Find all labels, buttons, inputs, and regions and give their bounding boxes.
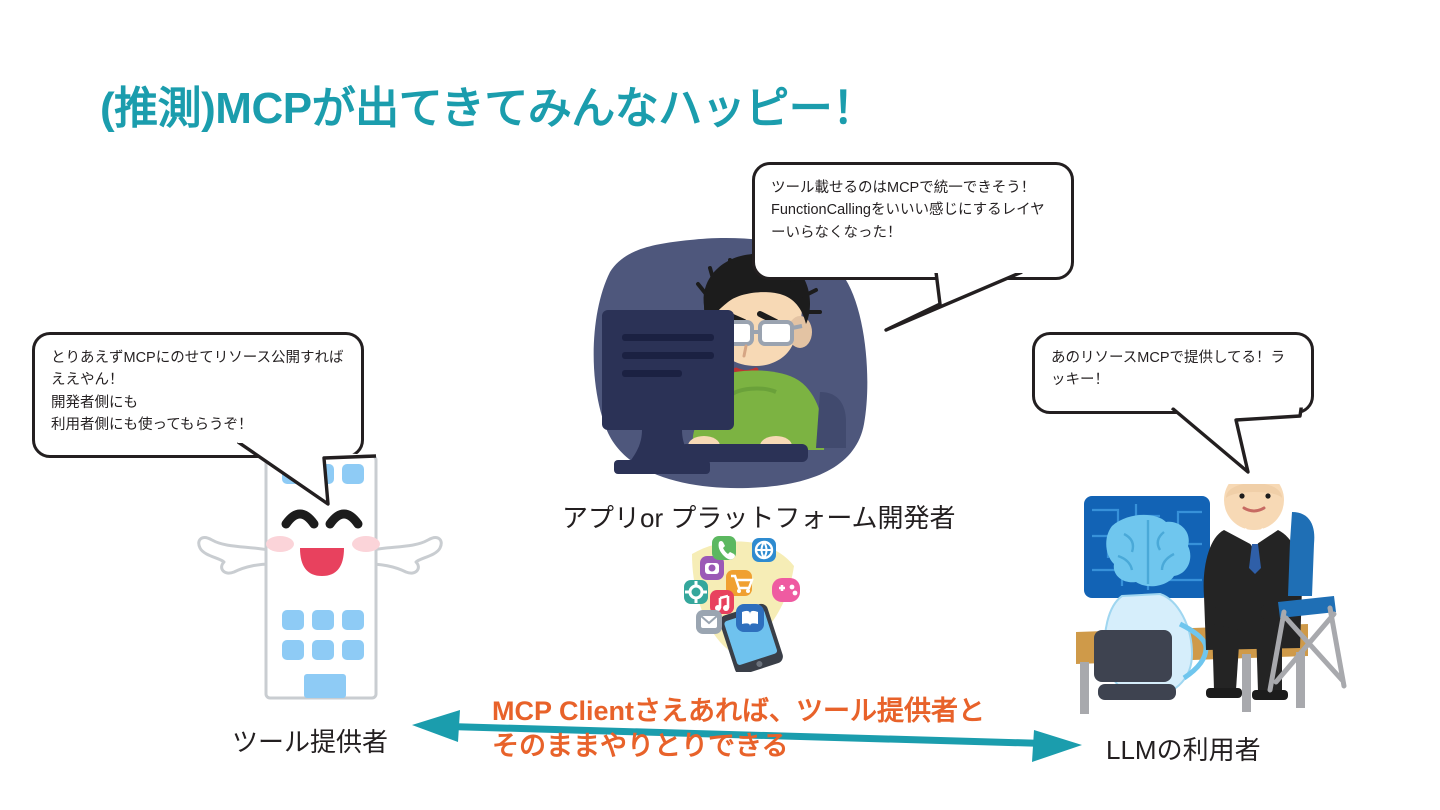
- caption-tool-provider: ツール提供者: [232, 722, 388, 759]
- caption-developer: アプリor プラットフォーム開発者: [562, 498, 956, 535]
- speech-bubble-developer: ツール載せるのはMCPで統一できそう！ FunctionCallingをいいい感…: [752, 162, 1074, 280]
- speech-bubble-tail-tool-provider: [236, 436, 386, 516]
- arrow-label: MCP Clientさえあれば、ツール提供者と そのままやりとりできる: [492, 694, 985, 763]
- slide-canvas: (推測)MCPが出てきてみんなハッピー！: [0, 0, 1440, 810]
- speech-bubble-tail-developer: [880, 268, 1030, 348]
- speech-bubble-tail-llm-user: [1170, 400, 1330, 480]
- caption-llm-user: LLMの利用者: [1106, 730, 1261, 767]
